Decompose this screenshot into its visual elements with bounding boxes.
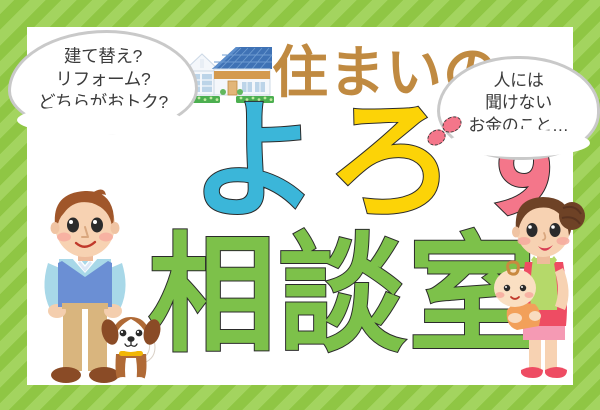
bubble-right-line-1: 人には: [440, 70, 597, 92]
kana-char-yo: よ: [190, 88, 326, 234]
speech-bubble-right-tail-mask: [448, 129, 590, 157]
speech-bubble-left-tail-mask: [17, 105, 182, 135]
headline-main: 相談室: [148, 232, 538, 360]
dog-illustration: [100, 310, 162, 386]
banner-root: 住まいの よろす 相談室: [0, 0, 600, 410]
woman-with-baby-illustration: [487, 192, 587, 385]
bubble-right-line-2: 聞けない: [440, 92, 597, 114]
speech-bubble-right: 人には 聞けない お金のこと…: [437, 56, 600, 160]
bubble-left-line-2: リフォーム?: [11, 68, 195, 91]
bubble-left-line-1: 建て替え?: [11, 45, 195, 68]
speech-bubble-left: 建て替え? リフォーム? どちらがおトク?: [8, 30, 198, 135]
